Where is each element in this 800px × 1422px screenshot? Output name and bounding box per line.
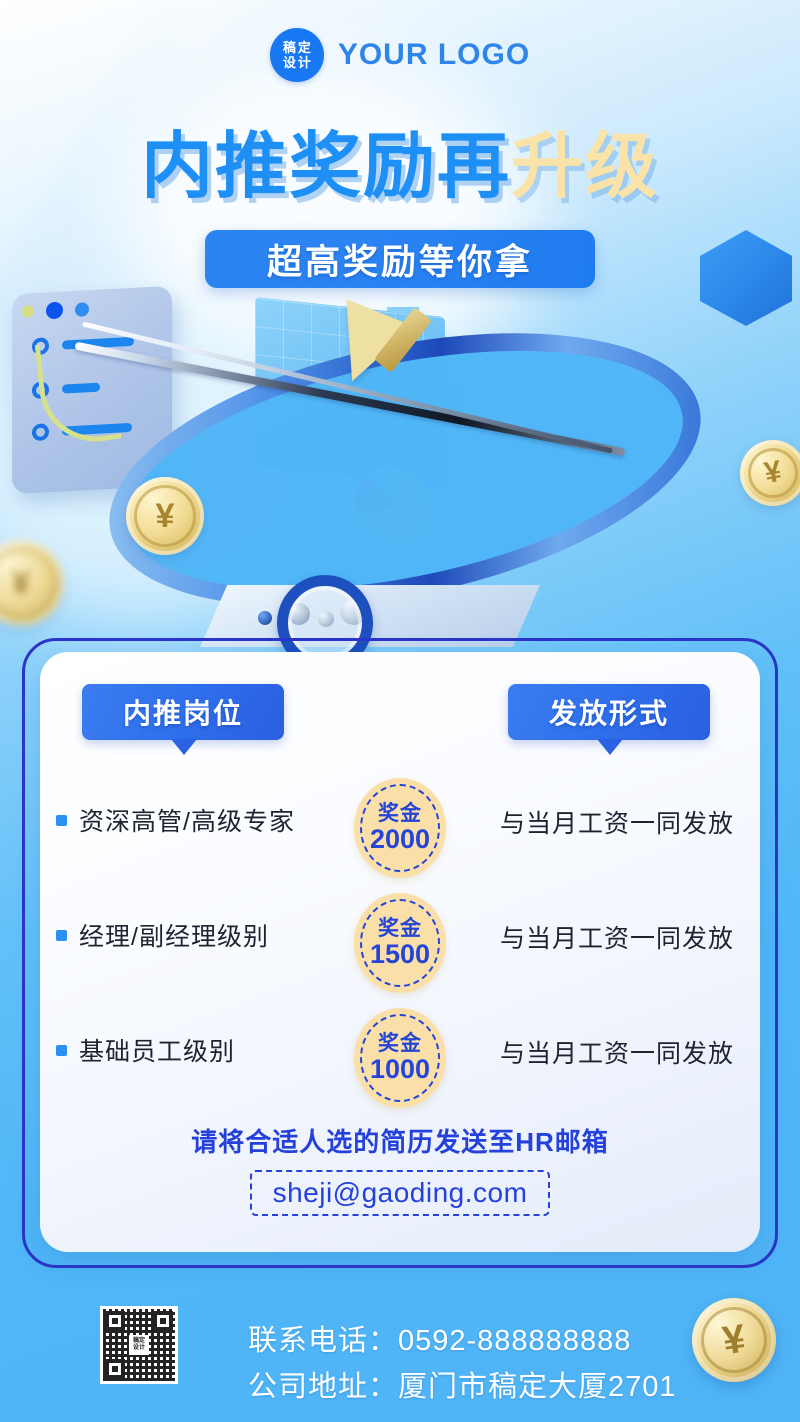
title-primary: 内推奖励再 xyxy=(141,124,511,208)
dot-icon xyxy=(22,305,34,318)
qr-char-4: 计 xyxy=(139,1345,145,1352)
qr-char-2: 定 xyxy=(139,1338,145,1345)
coin-icon: ¥ xyxy=(0,540,64,626)
qr-finder-icon xyxy=(105,1311,125,1331)
poster-canvas: 稿 定 设 计 YOUR LOGO 内推奖励再升级 超高奖励等你拿 xyxy=(0,0,800,1422)
logo-char-4: 计 xyxy=(298,56,311,70)
coin-icon: ¥ xyxy=(735,435,800,511)
qr-center-characters: 稿 定 设 计 xyxy=(133,1338,145,1352)
logo-mark: 稿 定 设 计 xyxy=(270,28,324,82)
job-label: 资深高管/高级专家 xyxy=(79,802,295,838)
sphere-icon xyxy=(258,611,272,625)
column-header-jobs: 内推岗位 xyxy=(82,684,284,740)
payout-label: 与当月工资一同发放 xyxy=(500,804,734,840)
qr-code[interactable]: 稿 定 设 计 xyxy=(100,1306,178,1384)
dot-icon xyxy=(75,302,89,317)
qr-code-pattern: 稿 定 设 计 xyxy=(103,1309,175,1381)
reward-table: 资深高管/高级专家 奖金 2000 与当月工资一同发放 经理/副经理级别 奖金 … xyxy=(40,770,760,1115)
bonus-amount: 2000 xyxy=(370,825,430,854)
job-label: 基础员工级别 xyxy=(79,1032,235,1068)
job-label: 经理/副经理级别 xyxy=(79,917,269,953)
logo-char-3: 设 xyxy=(283,56,296,70)
column-header-payout: 发放形式 xyxy=(508,684,710,740)
hexagon-cube-icon xyxy=(700,230,792,326)
logo-char-2: 定 xyxy=(298,41,311,55)
job-cell: 基础员工级别 xyxy=(56,1032,235,1068)
contact-address: 公司地址：厦门市稿定大厦2701 xyxy=(248,1364,677,1410)
logo-mark-characters: 稿 定 设 计 xyxy=(283,41,311,70)
contact-phone: 联系电话：0592-888888888 xyxy=(248,1318,677,1364)
bullet-icon xyxy=(56,815,67,826)
resume-note: 请将合适人选的简历发送至HR邮箱 xyxy=(40,1122,760,1159)
email-box[interactable]: sheji@gaoding.com xyxy=(250,1170,550,1216)
bonus-label: 奖金 xyxy=(378,1032,422,1055)
subtitle-banner: 超高奖励等你拿 xyxy=(205,230,595,288)
payout-label: 与当月工资一同发放 xyxy=(500,919,734,955)
bonus-label: 奖金 xyxy=(378,802,422,825)
table-row: 资深高管/高级专家 奖金 2000 与当月工资一同发放 xyxy=(40,770,760,885)
table-row: 经理/副经理级别 奖金 1500 与当月工资一同发放 xyxy=(40,885,760,1000)
contact-block: 联系电话：0592-888888888 公司地址：厦门市稿定大厦2701 xyxy=(248,1318,677,1410)
payout-label: 与当月工资一同发放 xyxy=(500,1034,734,1070)
page-title: 内推奖励再升级 xyxy=(0,107,800,212)
qr-center-logo: 稿 定 设 计 xyxy=(129,1335,149,1355)
radio-icon xyxy=(32,423,49,441)
email-address: sheji@gaoding.com xyxy=(273,1177,528,1209)
subtitle-text: 超高奖励等你拿 xyxy=(267,234,533,285)
bonus-amount: 1000 xyxy=(370,1055,430,1084)
logo-text: YOUR LOGO xyxy=(338,38,530,72)
brand-header: 稿 定 设 计 YOUR LOGO xyxy=(0,28,800,82)
bonus-label: 奖金 xyxy=(378,917,422,940)
coin-icon: ¥ xyxy=(126,477,204,555)
column-header-jobs-label: 内推岗位 xyxy=(123,692,243,732)
bullet-icon xyxy=(56,930,67,941)
info-card: 内推岗位 发放形式 资深高管/高级专家 奖金 2000 与当月工资一同发放 xyxy=(40,652,760,1252)
dot-icon xyxy=(46,302,63,320)
table-row: 基础员工级别 奖金 1000 与当月工资一同发放 xyxy=(40,1000,760,1115)
bonus-badge: 奖金 2000 xyxy=(354,778,446,878)
job-cell: 资深高管/高级专家 xyxy=(56,802,295,838)
coin-icon: ¥ xyxy=(687,1293,782,1388)
column-header-payout-label: 发放形式 xyxy=(549,692,669,732)
job-cell: 经理/副经理级别 xyxy=(56,917,269,953)
title-highlight: 升级 xyxy=(511,124,659,208)
bonus-amount: 1500 xyxy=(370,940,430,969)
hero-illustration: ¥ ¥ ¥ xyxy=(0,285,800,655)
bullet-icon xyxy=(56,1045,67,1056)
qr-finder-icon xyxy=(153,1311,173,1331)
logo-char-1: 稿 xyxy=(283,41,296,55)
qr-finder-icon xyxy=(105,1359,125,1379)
bonus-badge: 奖金 1000 xyxy=(354,1008,446,1108)
bonus-badge: 奖金 1500 xyxy=(354,893,446,993)
